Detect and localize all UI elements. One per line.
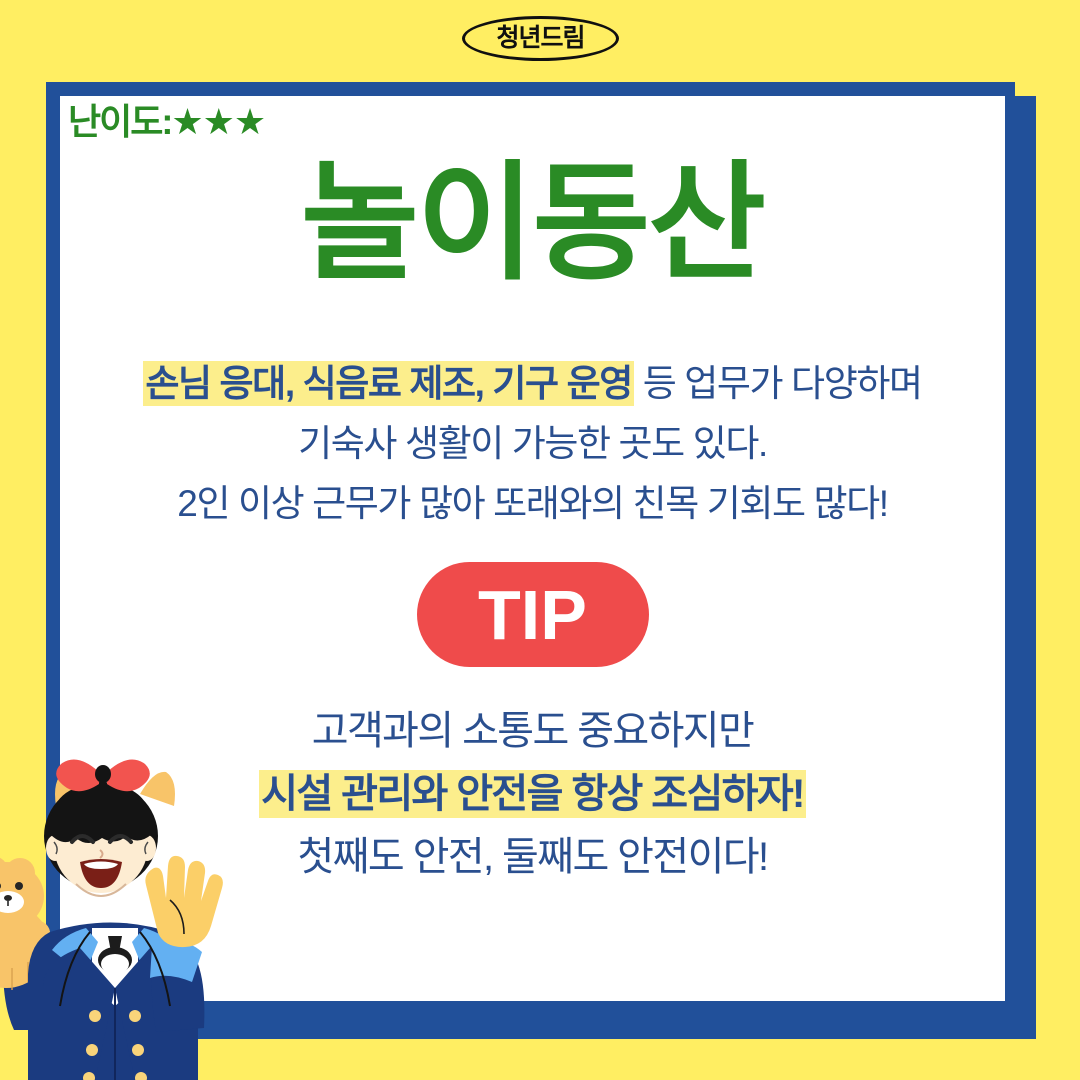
description-line-1-rest: 등 업무가 다양하며 bbox=[634, 363, 922, 404]
page-title: 놀이동산 bbox=[60, 148, 1005, 299]
difficulty-label: 난이도: bbox=[68, 104, 171, 140]
description-block: 손님 응대, 식음료 제조, 기구 운영 등 업무가 다양하며 기숙사 생활이 … bbox=[60, 354, 1005, 534]
description-line-2: 기숙사 생활이 가능한 곳도 있다. bbox=[60, 414, 1005, 474]
description-highlight-1: 손님 응대, 식음료 제조, 기구 운영 bbox=[143, 361, 633, 406]
difficulty-stars-icon: ★★★ bbox=[171, 104, 265, 140]
description-line-1: 손님 응대, 식음료 제조, 기구 운영 등 업무가 다양하며 bbox=[60, 354, 1005, 414]
tip-badge-label: TIP bbox=[478, 580, 587, 650]
brand-badge-label: 청년드림 bbox=[496, 26, 584, 51]
frame-shadow-right bbox=[1005, 96, 1036, 1039]
frame-top-bar bbox=[46, 82, 1015, 96]
brand-badge: 청년드림 bbox=[462, 16, 619, 61]
difficulty-row: 난이도: ★★★ bbox=[68, 104, 265, 140]
description-line-3: 2인 이상 근무가 많아 또래와의 친목 기회도 많다! bbox=[60, 474, 1005, 534]
tip-highlight-2: 시설 관리와 안전을 항상 조심하자! bbox=[259, 770, 806, 818]
character-illustration bbox=[0, 750, 244, 1080]
tip-badge: TIP bbox=[417, 562, 649, 667]
